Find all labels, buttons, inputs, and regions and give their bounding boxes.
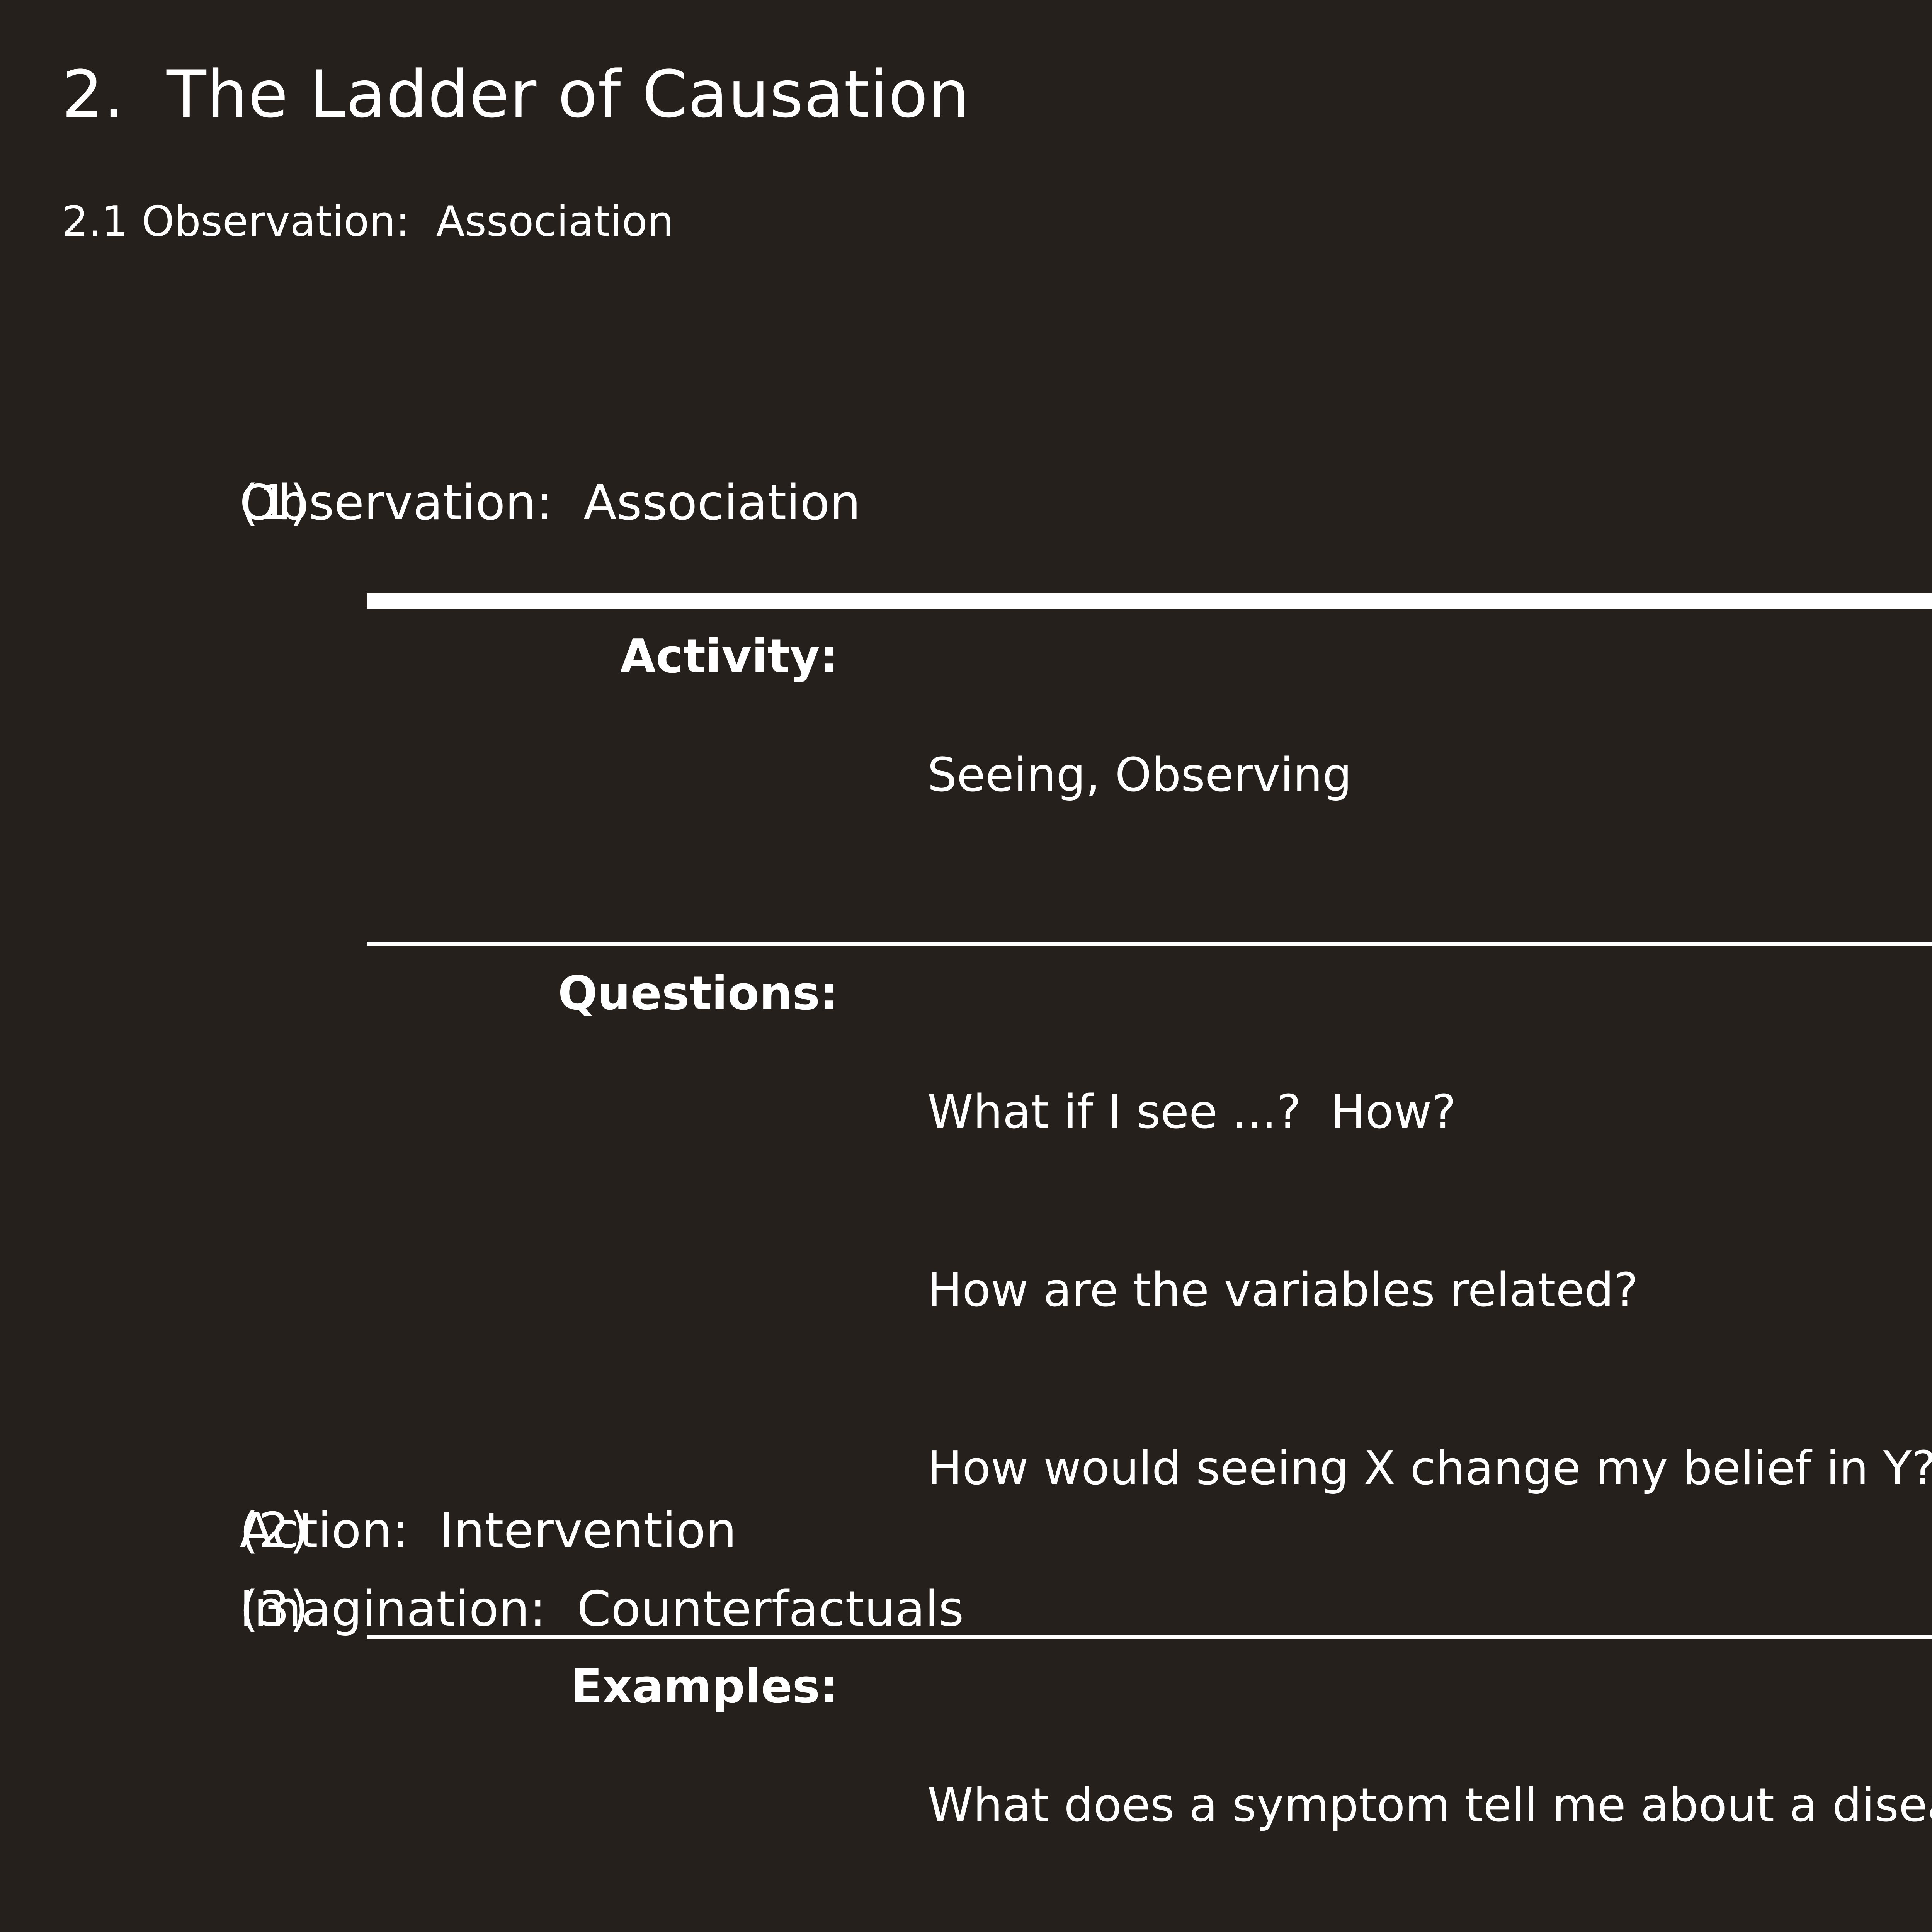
list-item-label: Imagination: Counterfactuals	[240, 1582, 964, 1636]
ladder-of-causation-list-continued: (2) Action: Intervention (3) Imagination…	[0, 1503, 1932, 1636]
table-row-key: Activity:	[367, 609, 838, 704]
table-row-key: Examples:	[367, 1639, 838, 1735]
list-item: (1) Observation: Association	[0, 475, 1932, 530]
table-row-key: Questions:	[367, 946, 838, 1041]
table-row-value: What does a symptom tell me about a dise…	[838, 1639, 1932, 1932]
list-item: (3) Imagination: Counterfactuals	[0, 1582, 1932, 1636]
table-cell-line: Seeing, Observing	[927, 746, 1932, 805]
table-top-rule	[367, 593, 1932, 609]
table-row: Activity: Seeing, Observing	[367, 609, 1932, 942]
ladder-of-causation-list: (1) Observation: Association	[0, 475, 1932, 530]
list-item-label: Action: Intervention	[240, 1503, 736, 1558]
table-row-value: Seeing, Observing	[838, 609, 1932, 942]
table-cell-line: How are the variables related?	[927, 1261, 1932, 1320]
list-item-number: (2)	[0, 1503, 240, 1558]
table-cell-line: What does a symptom tell me about a dise…	[927, 1776, 1932, 1835]
table-cell-line: How would seeing X change my belief in Y…	[927, 1439, 1932, 1498]
list-item-label: Observation: Association	[240, 475, 861, 530]
page-subtitle: 2.1 Observation: Association	[62, 201, 674, 243]
association-table: Activity: Seeing, Observing Questions: W…	[367, 593, 1932, 1932]
list-item-number: (3)	[0, 1582, 240, 1636]
table-row: Examples: What does a symptom tell me ab…	[367, 1639, 1932, 1932]
page-title: 2. The Ladder of Causation	[62, 62, 970, 127]
table-row-rule	[367, 942, 1932, 946]
list-item-number: (1)	[0, 475, 240, 530]
table-cell-line: What if I see ...? How?	[927, 1083, 1932, 1142]
list-item: (2) Action: Intervention	[0, 1503, 1932, 1558]
